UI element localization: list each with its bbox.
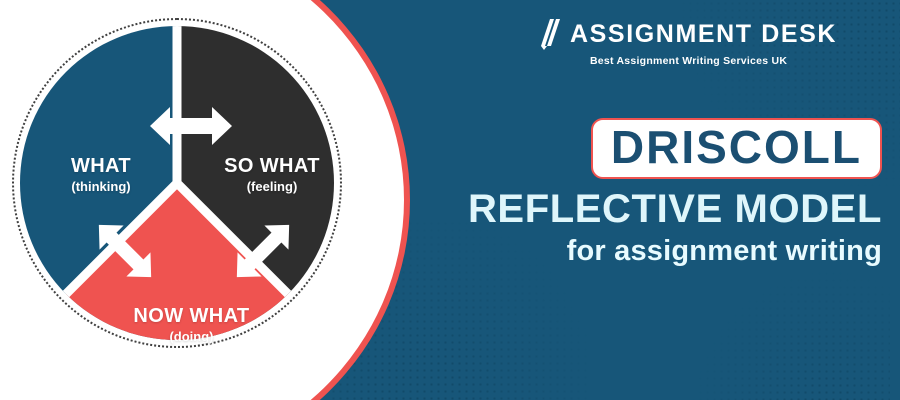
driscoll-model-diagram: WHAT (thinking) SO WHAT (feeling) NOW WH… [12, 18, 342, 348]
label-what-subtitle: (thinking) [36, 180, 166, 194]
label-so-what: SO WHAT (feeling) [202, 156, 342, 194]
horizontal-double-arrow-icon [150, 104, 232, 148]
label-now-what: NOW WHAT (doing) [104, 306, 279, 344]
headline-block: DRISCOLL REFLECTIVE MODEL for assignment… [468, 118, 882, 269]
logo-tagline: Best Assignment Writing Services UK [590, 55, 787, 67]
label-now-what-title: NOW WHAT [104, 306, 279, 328]
banner: WHAT (thinking) SO WHAT (feeling) NOW WH… [0, 0, 900, 400]
headline-line-2: REFLECTIVE MODEL [468, 187, 882, 231]
headline-line-1: DRISCOLL [611, 121, 862, 173]
driscoll-title-box: DRISCOLL [591, 118, 882, 179]
diagonal-double-arrow-right-icon [226, 214, 300, 288]
pencil-slash-icon [540, 18, 570, 50]
logo-lockup: ASSIGNMENT DESK [540, 18, 837, 50]
dot-pattern-bottom-right [690, 270, 890, 400]
logo-brand-name: ASSIGNMENT DESK [570, 22, 837, 47]
label-now-what-subtitle: (doing) [104, 330, 279, 344]
headline-line-3: for assignment writing [468, 235, 882, 268]
label-what: WHAT (thinking) [36, 156, 166, 194]
brand-logo[interactable]: ASSIGNMENT DESK Best Assignment Writing … [540, 18, 837, 67]
label-so-what-title: SO WHAT [202, 156, 342, 178]
label-so-what-subtitle: (feeling) [202, 180, 342, 194]
label-what-title: WHAT [36, 156, 166, 178]
diagonal-double-arrow-left-icon [88, 214, 162, 288]
